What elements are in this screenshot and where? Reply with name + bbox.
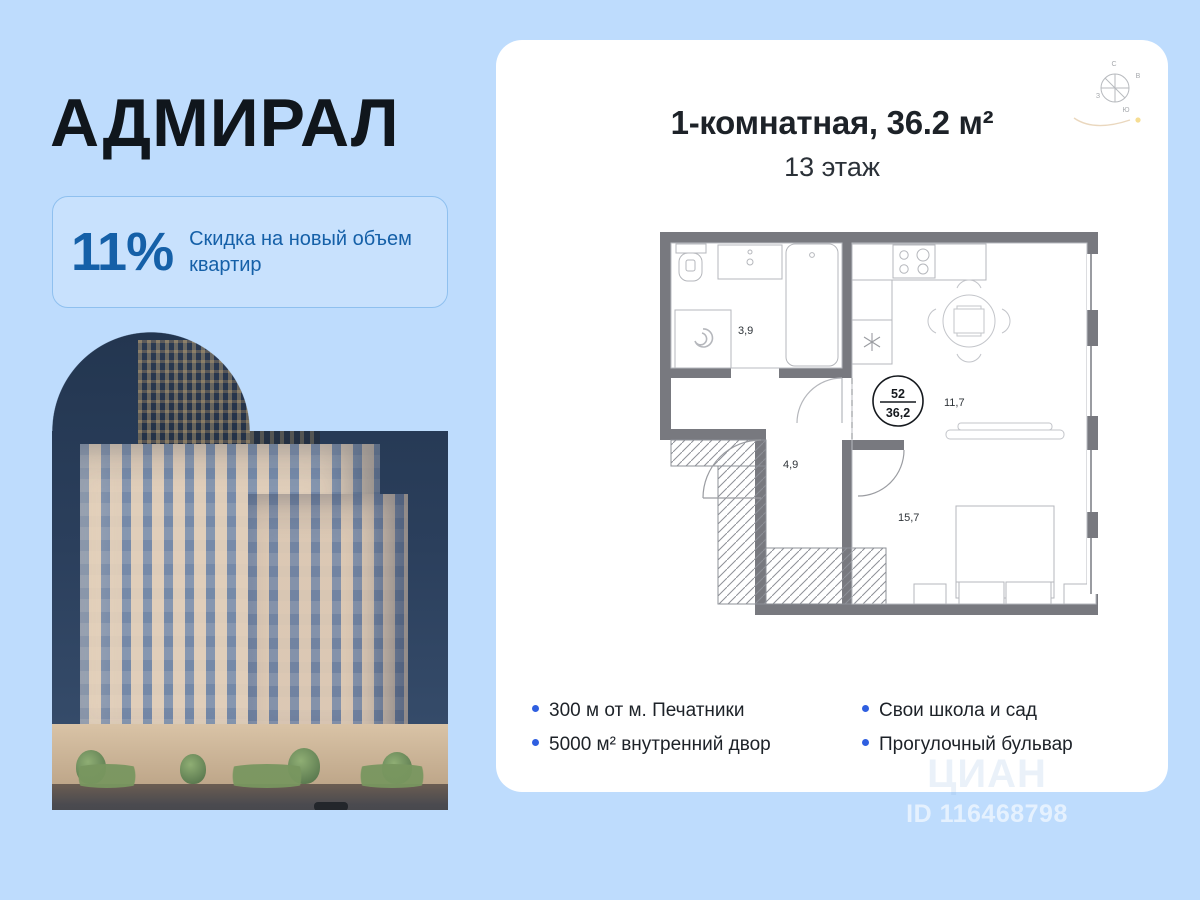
floorplan-card: С В Ю З 1-комнатная, 36.2 м² 13 этаж: [496, 40, 1168, 792]
tree: [180, 754, 206, 784]
svg-text:С: С: [1111, 61, 1116, 68]
page-title: 1-комнатная, 36.2 м²: [496, 104, 1168, 142]
bullet-icon: [532, 739, 539, 746]
discount-description: Скидка на новый объем квартир: [189, 226, 429, 278]
landscaping: [212, 764, 322, 788]
svg-text:З: З: [1096, 93, 1100, 100]
feature-label: 300 м от м. Печатники: [549, 700, 744, 722]
secondary-residential-tower: [248, 494, 408, 756]
left-promo-panel: АДМИРАЛ 11% Скидка на новый объем кварти…: [0, 0, 480, 900]
feature-item: Прогулочный бульвар: [862, 734, 1142, 756]
discount-value: 11%: [71, 225, 173, 279]
feature-item: 300 м от м. Печатники: [532, 700, 862, 722]
feature-label: Свои школа и сад: [879, 700, 1037, 722]
bathroom-area-label: 3,9: [738, 325, 753, 337]
discount-badge: 11% Скидка на новый объем квартир: [52, 196, 448, 308]
advertisement-card: АДМИРАЛ 11% Скидка на новый объем кварти…: [0, 0, 1200, 900]
feature-label: 5000 м² внутренний двор: [549, 734, 771, 756]
brand-logo: АДМИРАЛ: [50, 88, 450, 158]
watermark-listing-id: ID 116468798: [862, 800, 1112, 829]
bullet-icon: [862, 705, 869, 712]
apartment-number: 52: [891, 387, 905, 401]
hallway-area-label: 4,9: [783, 459, 798, 471]
apartment-total-area: 36,2: [886, 406, 910, 420]
bullet-icon: [532, 705, 539, 712]
bedroom-area-label: 15,7: [898, 512, 919, 524]
feature-list: 300 м от м. Печатники Свои школа и сад 5…: [532, 700, 1142, 756]
building-exterior-photo: [52, 332, 448, 810]
landscaping: [342, 764, 442, 788]
feature-item: Свои школа и сад: [862, 700, 1142, 722]
feature-item: 5000 м² внутренний двор: [532, 734, 862, 756]
svg-text:В: В: [1136, 73, 1141, 80]
floor-label: 13 этаж: [496, 152, 1168, 183]
apartment-badge: 52 36,2: [873, 376, 923, 426]
kitchen-area-label: 11,7: [944, 397, 965, 409]
bullet-icon: [862, 739, 869, 746]
feature-label: Прогулочный бульвар: [879, 734, 1073, 756]
car: [314, 802, 348, 810]
landscaping: [62, 764, 152, 788]
floorplan-drawing: 3,9 4,9: [646, 218, 1116, 638]
